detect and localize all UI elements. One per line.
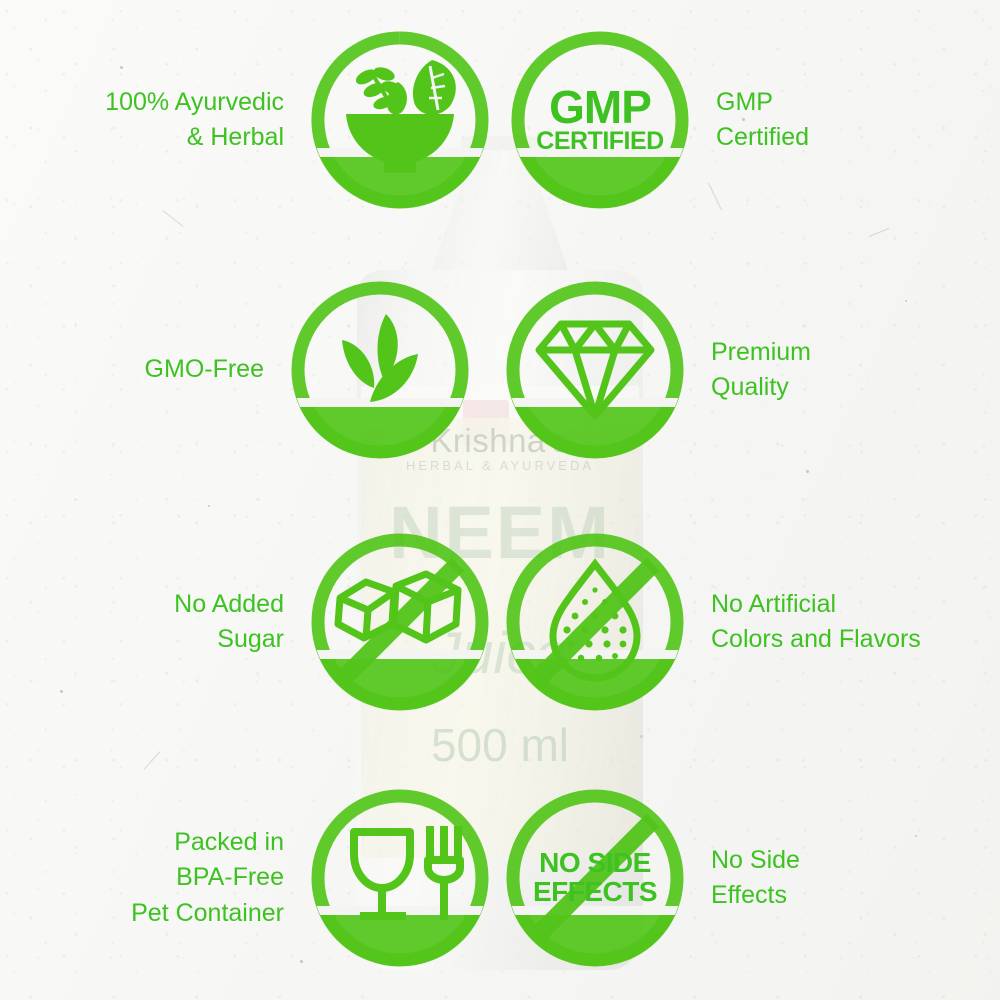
feature-no-added-sugar: No Added Sugar	[0, 532, 490, 712]
feature-gmp-certified: GMP CERTIFIED GMP Certified	[510, 30, 1000, 210]
infographic-canvas: Krishna's HERBAL & AYURVEDA NEEM Juice 5…	[0, 0, 1000, 1000]
feature-no-side-effects-label: No Side Effects	[711, 843, 976, 914]
gmp-certified-icon: GMP CERTIFIED	[510, 30, 690, 210]
food-safe-glass-fork-icon	[310, 788, 490, 968]
sugar-cubes-icon	[310, 532, 490, 712]
feature-bpa-free-pet-container-label: Packed in BPA-Free Pet Container	[39, 825, 284, 932]
feature-ayurvedic-label: 100% Ayurvedic & Herbal	[39, 85, 284, 156]
leaves-icon	[290, 280, 470, 460]
feature-no-artificial-colors-flavors-label: No Artificial Colors and Flavors	[711, 587, 976, 658]
no-side-effects-icon: NO SIDE EFFECTS	[505, 788, 685, 968]
mortar-pestle-herbs-icon	[310, 30, 490, 210]
feature-badge-grid: 100% Ayurvedic & Herbal	[0, 0, 1000, 1000]
feature-no-side-effects: NO SIDE EFFECTS No Side Effects	[505, 788, 1000, 968]
water-drop-dots-icon	[505, 532, 685, 712]
feature-gmo-free: GMO-Free	[0, 280, 470, 460]
feature-gmo-free-label: GMO-Free	[19, 352, 264, 388]
feature-ayurvedic: 100% Ayurvedic & Herbal	[0, 30, 490, 210]
diamond-icon	[505, 280, 685, 460]
feature-no-added-sugar-label: No Added Sugar	[39, 587, 284, 658]
feature-premium-quality-label: Premium Quality	[711, 335, 976, 406]
feature-gmp-certified-label: GMP Certified	[716, 85, 981, 156]
feature-premium-quality: Premium Quality	[505, 280, 1000, 460]
feature-no-artificial-colors-flavors: No Artificial Colors and Flavors	[505, 532, 1000, 712]
feature-bpa-free-pet-container: Packed in BPA-Free Pet Container	[0, 788, 490, 968]
